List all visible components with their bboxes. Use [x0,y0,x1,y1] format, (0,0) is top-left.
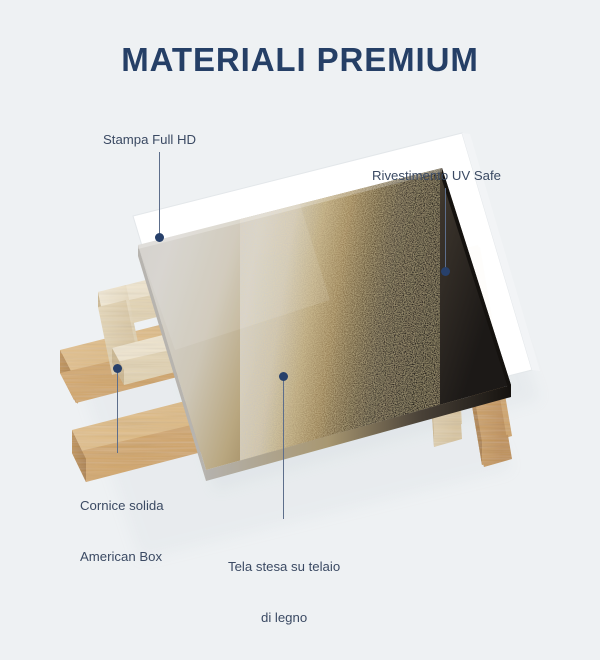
callout-leader-rivestimento-uv-safe [445,188,446,270]
callout-label-cornice-solida-line2: American Box [80,548,164,565]
callout-dot-rivestimento-uv-safe [441,267,450,276]
callout-label-rivestimento-uv-safe: Rivestimento UV Safe [372,167,501,184]
callout-label-stampa-full-hd: Stampa Full HD [103,131,196,148]
callout-dot-tela-stesa [279,372,288,381]
callout-leader-cornice-solida [117,370,118,453]
callout-label-tela-stesa: Tela stesa su telaio di legno [228,524,340,660]
page-title: MATERIALI PREMIUM [0,42,600,78]
callout-label-tela-stesa-line1: Tela stesa su telaio [228,558,340,575]
callout-label-cornice-solida-line1: Cornice solida [80,497,164,514]
illustration-stage: MATERIALI PREMIUM Stampa Full HD Rivesti… [0,0,600,600]
callout-dot-cornice-solida [113,364,122,373]
callout-dot-stampa-full-hd [155,233,164,242]
callout-leader-tela-stesa [283,379,284,519]
callout-label-cornice-solida: Cornice solida American Box [80,463,164,599]
callout-label-tela-stesa-line2: di legno [228,609,340,626]
callout-leader-stampa-full-hd [159,152,160,236]
